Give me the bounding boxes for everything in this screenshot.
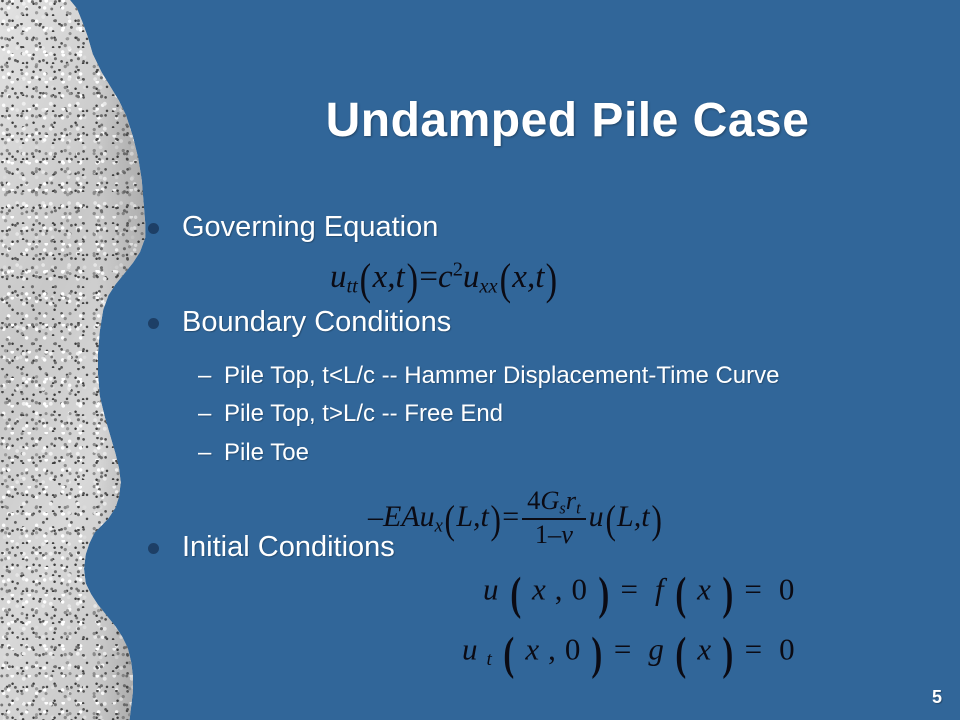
equation-initial-condition-2: ut(x,0)=g(x)=0: [462, 632, 795, 679]
eq-ic2-paren-open-2: (: [675, 632, 686, 679]
eq-toe-den-nu: ν: [561, 519, 573, 549]
eq-gov-paren-open-2: (: [499, 258, 510, 302]
eq-toe-paren-close-2: ): [651, 500, 661, 540]
equation-pile-toe: –EAux(L,t)=4Gsrt1–νu(L,t): [368, 489, 663, 549]
eq-ic1-u: u: [483, 572, 499, 607]
bullet-dot-icon: [148, 543, 159, 554]
eq-gov-paren-close: ): [406, 258, 417, 302]
bullet-dot-icon: [148, 223, 159, 234]
eq-ic1-zero-arg: 0: [572, 572, 588, 607]
eq-ic2-paren-close: ): [592, 632, 603, 679]
bullet-dot-icon: [148, 318, 159, 329]
eq-ic1-equals-1: =: [621, 572, 638, 607]
eq-ic2-comma: ,: [548, 632, 556, 667]
eq-gov-sub-tt: tt: [347, 276, 358, 298]
eq-ic2-x: x: [525, 632, 539, 667]
eq-ic1-f: f: [655, 572, 664, 607]
eq-ic2-x2: x: [697, 632, 711, 667]
eq-ic2-paren-close-2: ): [722, 632, 733, 679]
eq-ic1-paren-close-2: ): [722, 572, 733, 619]
bullet-label: Governing Equation: [182, 210, 438, 244]
eq-toe-paren-open-2: (: [605, 500, 615, 540]
eq-toe-equals: =: [502, 500, 519, 533]
eq-toe-args-2: L,t: [617, 500, 650, 533]
eq-toe-args: L,t: [456, 500, 489, 533]
eq-gov-exponent: 2: [453, 259, 463, 281]
page-number: 5: [932, 687, 942, 708]
eq-ic2-g: g: [648, 632, 664, 667]
eq-ic2-sub-t: t: [487, 649, 492, 670]
eq-toe-paren-close: ): [490, 500, 500, 540]
eq-toe-u2: u: [589, 500, 604, 533]
eq-toe-EA: EA: [383, 500, 420, 533]
eq-toe-denominator: 1–ν: [522, 520, 585, 547]
dash-bullet-icon: –: [198, 438, 214, 468]
equation-initial-condition-1: u(x,0)=f(x)=0: [483, 572, 794, 619]
eq-ic2-u: u: [462, 632, 478, 667]
bullet-label: Boundary Conditions: [182, 305, 451, 339]
subbullet-label: Pile Top, t<L/c -- Hammer Displacement-T…: [224, 361, 780, 391]
eq-toe-fraction: 4Gsrt1–ν: [522, 487, 585, 547]
eq-ic1-paren-open-2: (: [675, 572, 686, 619]
eq-toe-den-1: 1: [535, 519, 548, 549]
eq-gov-c: c: [438, 259, 453, 295]
eq-ic1-paren-close: ): [598, 572, 609, 619]
eq-ic1-x2: x: [697, 572, 711, 607]
eq-ic2-equals-2: =: [745, 632, 762, 667]
eq-ic2-equals-1: =: [614, 632, 631, 667]
equation-governing: utt(x,t)=c2uxx(x,t): [330, 258, 559, 302]
subbullet-label: Pile Toe: [224, 438, 309, 468]
bullet-label: Initial Conditions: [182, 530, 395, 564]
eq-gov-paren-open: (: [359, 258, 370, 302]
eq-toe-paren-open: (: [444, 500, 454, 540]
dash-bullet-icon: –: [198, 399, 214, 429]
bullet-boundary-conditions: Boundary Conditions: [148, 305, 948, 339]
eq-ic1-x: x: [532, 572, 546, 607]
eq-toe-minus: –: [368, 500, 383, 533]
eq-toe-den-minus: –: [548, 519, 561, 549]
eq-toe-numerator: 4Gsrt: [522, 487, 585, 518]
eq-gov-args: x,t: [373, 259, 405, 295]
subbullet-pile-top-less: – Pile Top, t<L/c -- Hammer Displacement…: [148, 361, 948, 391]
slide-title: Undamped Pile Case: [175, 96, 960, 146]
eq-ic2-zero-arg: 0: [565, 632, 581, 667]
eq-toe-sub-x: x: [435, 515, 443, 536]
eq-ic2-paren-open: (: [503, 632, 514, 679]
subbullet-pile-top-greater: – Pile Top, t>L/c -- Free End: [148, 399, 948, 429]
eq-ic1-comma: ,: [555, 572, 563, 607]
slide: Undamped Pile Case Governing Equation Bo…: [0, 0, 960, 720]
subbullet-label: Pile Top, t>L/c -- Free End: [224, 399, 503, 429]
eq-toe-num-r: r: [566, 485, 576, 515]
eq-gov-args-2: x,t: [512, 259, 544, 295]
eq-gov-u: u: [330, 259, 347, 295]
eq-ic2-rhs: 0: [779, 632, 795, 667]
eq-ic1-rhs: 0: [779, 572, 795, 607]
eq-toe-num-sub-t: t: [576, 499, 581, 518]
eq-gov-sub-xx: xx: [479, 276, 497, 298]
eq-toe-num-G: G: [540, 485, 559, 515]
dash-bullet-icon: –: [198, 361, 214, 391]
eq-gov-equals: =: [419, 259, 438, 295]
eq-toe-num-4: 4: [527, 485, 540, 515]
eq-toe-u: u: [420, 500, 435, 533]
eq-gov-paren-close-2: ): [546, 258, 557, 302]
bullet-governing-equation: Governing Equation: [148, 210, 948, 244]
eq-ic1-paren-open: (: [510, 572, 521, 619]
eq-ic1-equals-2: =: [744, 572, 761, 607]
subbullet-pile-toe: – Pile Toe: [148, 438, 948, 468]
eq-gov-u2: u: [463, 259, 480, 295]
